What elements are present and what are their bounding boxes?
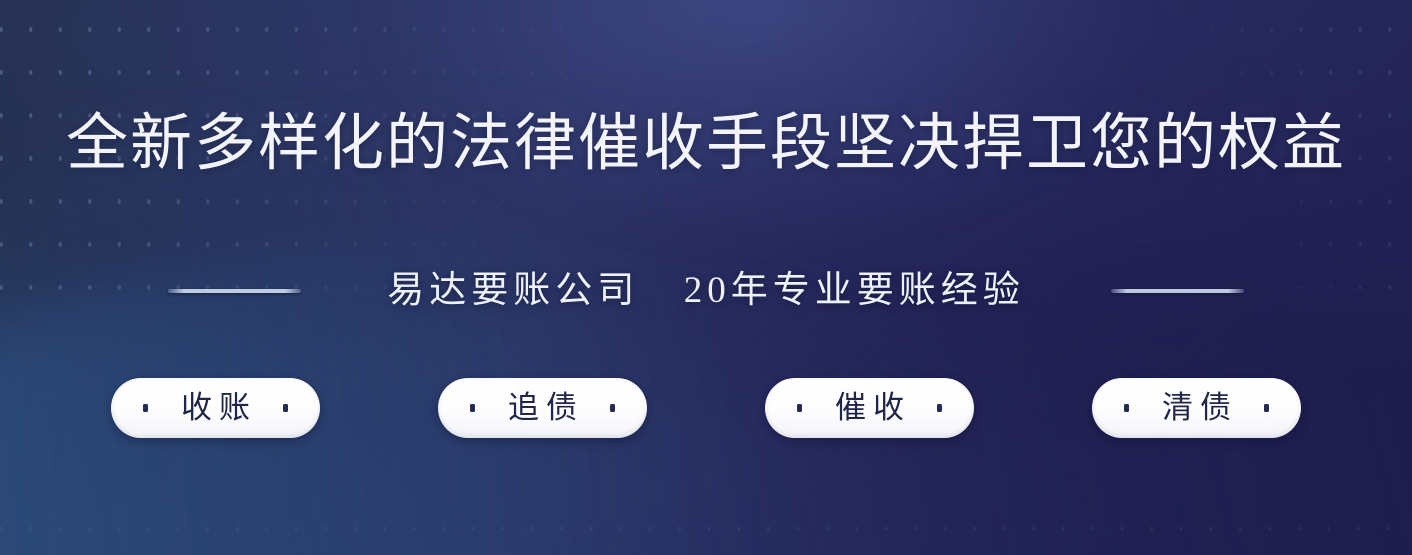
bullet-dot-icon [797,404,802,412]
promo-banner: 全新多样化的法律催收手段坚决捍卫您的权益 易达要账公司 20年专业要账经验 收账… [0,0,1412,555]
bullet-dot-icon [470,404,475,412]
banner-headline: 全新多样化的法律催收手段坚决捍卫您的权益 [0,108,1412,180]
service-pill-label: 收账 [174,389,257,427]
bullet-dot-icon [1124,404,1129,412]
service-pill-zhuizhai[interactable]: 追债 [438,378,647,438]
banner-content: 全新多样化的法律催收手段坚决捍卫您的权益 易达要账公司 20年专业要账经验 收账… [0,0,1412,555]
decorative-rule-right [1111,289,1244,293]
subtitle-company: 易达要账公司 [387,270,639,311]
subtitle-experience: 20年专业要账经验 [684,270,1025,311]
bullet-dot-icon [283,404,288,412]
service-pill-label: 催收 [828,389,911,427]
service-pill-label: 追债 [501,389,584,427]
service-pill-cuishou[interactable]: 催收 [765,378,974,438]
bullet-dot-icon [143,404,148,412]
bullet-dot-icon [937,404,942,412]
service-pill-shouzhang[interactable]: 收账 [111,378,320,438]
service-pill-label: 清债 [1155,389,1238,427]
service-pill-qingzhai[interactable]: 清债 [1092,378,1301,438]
banner-subtitle-row: 易达要账公司 20年专业要账经验 [0,268,1412,314]
bullet-dot-icon [1264,404,1269,412]
decorative-rule-left [168,289,301,293]
banner-subtitle: 易达要账公司 20年专业要账经验 [387,268,1025,314]
service-pill-list: 收账 追债 催收 清债 [0,378,1412,438]
bullet-dot-icon [610,404,615,412]
